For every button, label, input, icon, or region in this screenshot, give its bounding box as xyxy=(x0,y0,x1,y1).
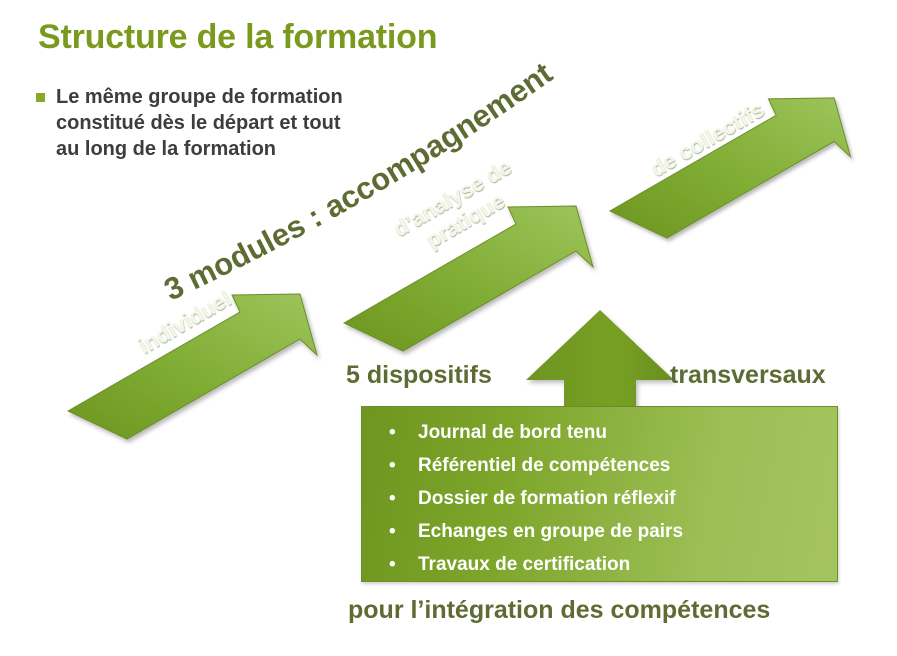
intro-bullet-item: Le même groupe de formation constitué dè… xyxy=(36,84,436,162)
square-bullet-icon xyxy=(36,93,45,102)
list-item: • Travaux de certification xyxy=(418,548,837,581)
bullet-dot-icon: • xyxy=(389,416,396,449)
list-item: • Référentiel de compétences xyxy=(418,449,837,482)
dispositifs-list: • Journal de bord tenu • Référentiel de … xyxy=(362,416,837,581)
bullet-dot-icon: • xyxy=(389,515,396,548)
arrow-analyse-pratique xyxy=(340,168,640,358)
list-item-label: Travaux de certification xyxy=(418,554,630,575)
list-item-label: Echanges en groupe de pairs xyxy=(418,521,683,542)
bullet-dot-icon: • xyxy=(389,449,396,482)
arrow-collectifs xyxy=(606,58,896,248)
bullet-dot-icon: • xyxy=(389,548,396,581)
list-item: • Echanges en groupe de pairs xyxy=(418,515,837,548)
list-item-label: Référentiel de compétences xyxy=(418,455,670,476)
arrow-individuel-label: individuel xyxy=(134,286,236,360)
list-item-label: Journal de bord tenu xyxy=(418,422,607,443)
page-title: Structure de la formation xyxy=(38,18,437,57)
footer-text: pour l’intégration des compétences xyxy=(348,596,770,625)
label-transversaux: transversaux xyxy=(670,361,826,390)
dispositifs-list-box: • Journal de bord tenu • Référentiel de … xyxy=(361,406,838,582)
slide-canvas: Structure de la formation Le même groupe… xyxy=(0,0,897,656)
arrow-collectifs-label: de collectifs xyxy=(646,96,769,182)
list-item-label: Dossier de formation réflexif xyxy=(418,488,676,509)
intro-bullet-text: Le même groupe de formation constitué dè… xyxy=(56,84,343,162)
list-item: • Dossier de formation réflexif xyxy=(418,482,837,515)
bullet-dot-icon: • xyxy=(389,482,396,515)
list-item: • Journal de bord tenu xyxy=(418,416,837,449)
arrow-analyse-pratique-label: d’analyse de pratique xyxy=(389,154,529,264)
label-5-dispositifs: 5 dispositifs xyxy=(346,361,492,390)
arrow-individuel xyxy=(64,256,364,446)
up-arrow-icon xyxy=(524,306,676,414)
